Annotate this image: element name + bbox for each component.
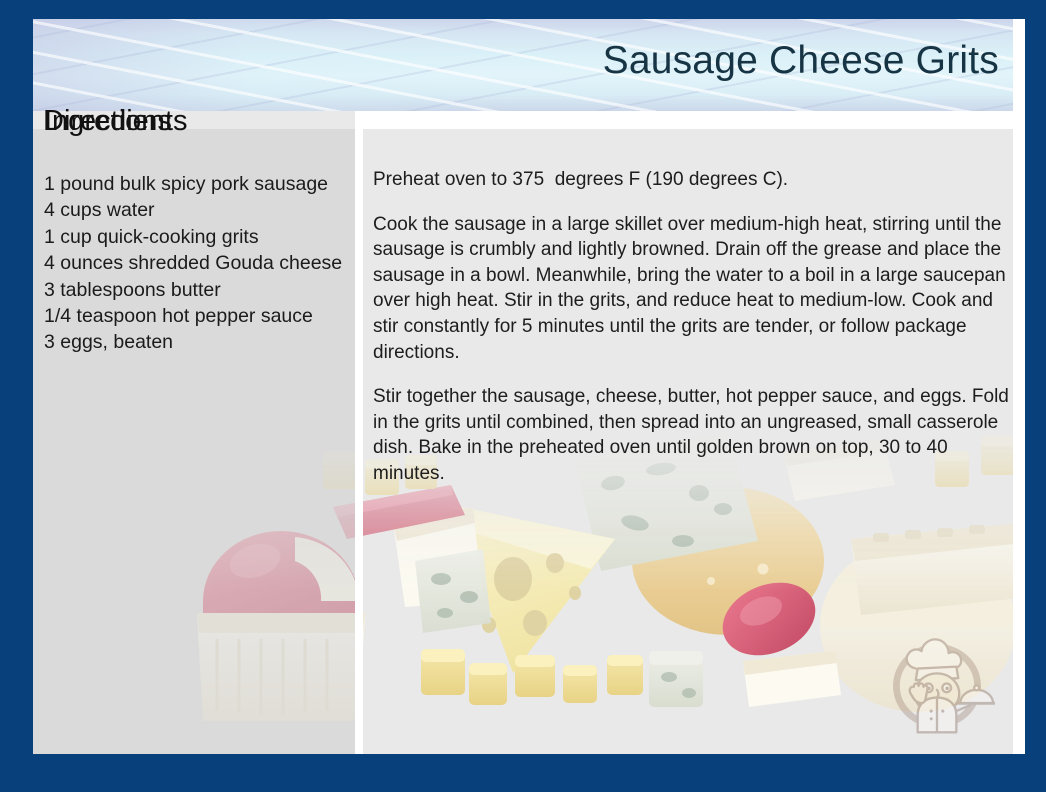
directions-heading: Directions — [43, 105, 172, 138]
directions-step: Preheat oven to 375 degrees F (190 degre… — [373, 167, 1021, 193]
page-title: Sausage Cheese Grits — [603, 39, 999, 83]
list-item: 1 cup quick-cooking grits — [44, 224, 349, 250]
recipe-content: Ingredients Directions 1 pound bulk spic… — [33, 111, 1013, 754]
directions-step: Cook the sausage in a large skillet over… — [373, 212, 1021, 366]
column-divider — [355, 111, 363, 754]
list-item: 4 ounces shredded Gouda cheese — [44, 250, 349, 276]
list-item: 4 cups water — [44, 197, 349, 223]
header-banner: Sausage Cheese Grits — [33, 19, 1013, 111]
ingredients-list: 1 pound bulk spicy pork sausage 4 cups w… — [44, 171, 349, 356]
list-item: 1 pound bulk spicy pork sausage — [44, 171, 349, 197]
list-item: 3 eggs, beaten — [44, 329, 349, 355]
recipe-card: Sausage Cheese Grits — [33, 19, 1025, 754]
list-item: 1/4 teaspoon hot pepper sauce — [44, 303, 349, 329]
directions-tab-notch — [187, 111, 1013, 129]
directions-body: Preheat oven to 375 degrees F (190 degre… — [373, 167, 1021, 487]
directions-step: Stir together the sausage, cheese, butte… — [373, 384, 1021, 486]
list-item: 3 tablespoons butter — [44, 277, 349, 303]
chef-mascot-logo — [879, 626, 995, 742]
